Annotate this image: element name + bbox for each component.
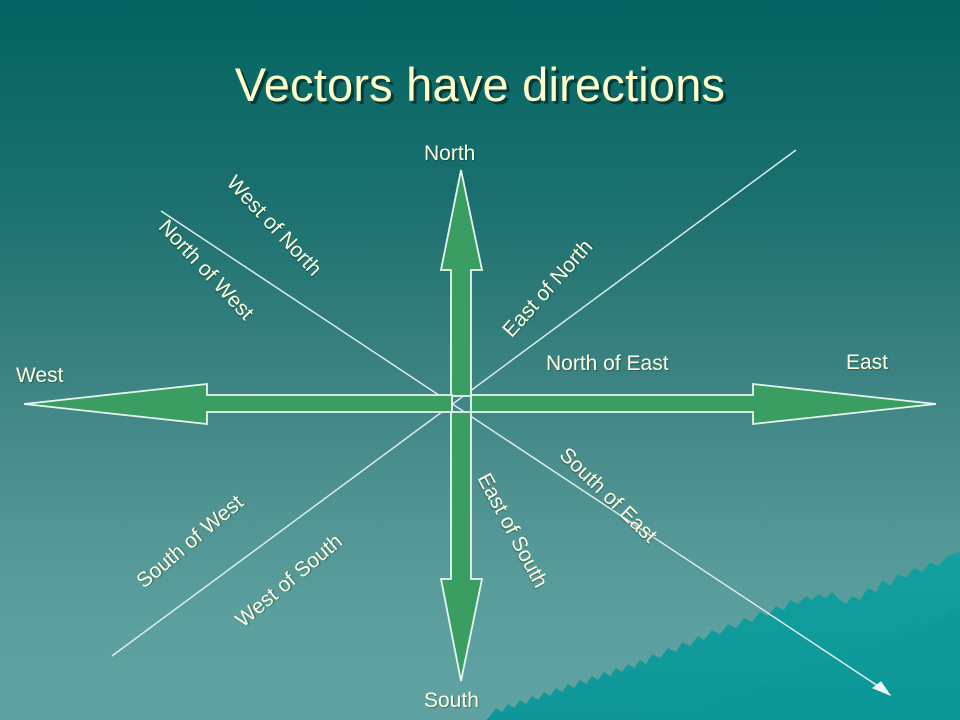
label-east: East [846,352,888,373]
northwest-southeast-line [161,211,884,690]
compass-diagram [0,0,960,720]
south-arrow [441,412,482,681]
north-arrow [441,170,482,396]
label-south: South [424,690,479,711]
label-west: West [16,365,63,386]
slide-canvas: Vectors have directions North South East… [0,0,960,720]
cardinal-arrows [24,170,936,681]
east-arrow [471,384,936,424]
west-arrow [24,384,452,424]
label-north-of-east: North of East [546,353,669,374]
label-north: North [424,143,475,164]
